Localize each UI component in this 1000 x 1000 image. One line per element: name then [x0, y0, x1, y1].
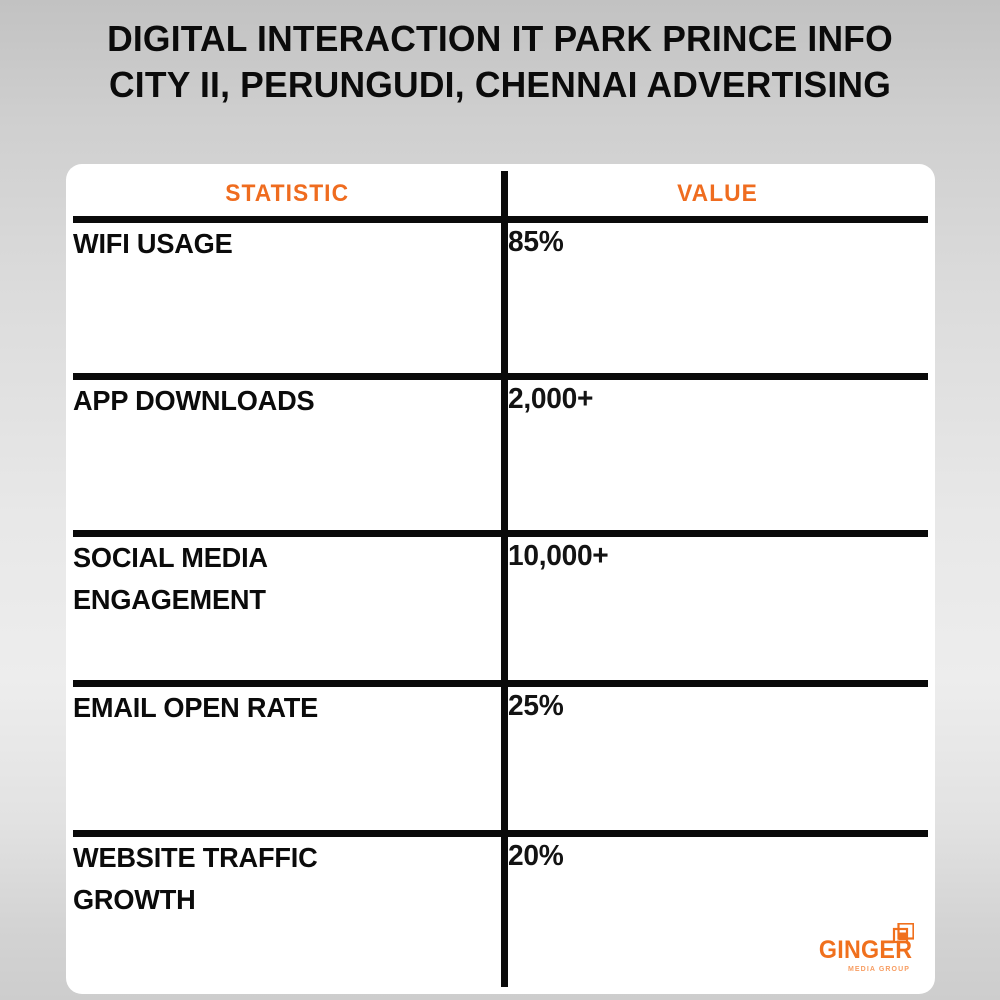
value-cell: 20% GINGER MEDIA GROUP — [504, 834, 931, 991]
statistic-label: EMAIL OPEN RATE — [73, 687, 488, 729]
table-row: WIFI USAGE 85% — [70, 220, 932, 377]
value-label: 20% — [508, 837, 916, 875]
value-cell: 85% — [504, 220, 931, 377]
ginger-media-group-logo: GINGER MEDIA GROUP — [796, 923, 916, 977]
statistic-cell: WIFI USAGE — [70, 220, 505, 377]
table-row: APP DOWNLOADS 2,000+ — [70, 377, 932, 534]
table-header-row: STATISTIC VALUE — [70, 168, 932, 220]
column-header-statistic: STATISTIC — [70, 168, 505, 220]
table-row: EMAIL OPEN RATE 25% — [70, 684, 932, 834]
statistics-table-container: STATISTIC VALUE WIFI USAGE 85% APP DOWNL… — [66, 164, 935, 979]
statistic-cell: APP DOWNLOADS — [70, 377, 505, 534]
value-label: 2,000+ — [508, 380, 916, 418]
statistics-table: STATISTIC VALUE WIFI USAGE 85% APP DOWNL… — [66, 164, 935, 994]
statistic-label: WEBSITE TRAFFIC GROWTH — [73, 837, 488, 921]
page-title-line-2: CITY II, PERUNGUDI, CHENNAI ADVERTISING — [55, 62, 945, 108]
statistic-label: WIFI USAGE — [73, 223, 488, 265]
value-cell: 25% — [504, 684, 931, 834]
page-title: DIGITAL INTERACTION IT PARK PRINCE INFO … — [0, 16, 1000, 108]
statistic-cell: SOCIAL MEDIA ENGAGEMENT — [70, 534, 505, 684]
logo-wordmark: GINGER — [804, 938, 916, 963]
column-header-value: VALUE — [504, 168, 931, 220]
table-row: WEBSITE TRAFFIC GROWTH 20% GIN — [70, 834, 932, 991]
statistic-cell: WEBSITE TRAFFIC GROWTH — [70, 834, 505, 991]
value-cell: 2,000+ — [504, 377, 931, 534]
table-row: SOCIAL MEDIA ENGAGEMENT 10,000+ — [70, 534, 932, 684]
statistic-label: SOCIAL MEDIA ENGAGEMENT — [73, 537, 488, 621]
value-cell: 10,000+ — [504, 534, 931, 684]
column-header-statistic-label: STATISTIC — [225, 180, 349, 208]
value-label: 85% — [508, 223, 916, 261]
statistic-cell: EMAIL OPEN RATE — [70, 684, 505, 834]
logo-tagline: MEDIA GROUP — [796, 965, 916, 974]
value-label: 25% — [508, 687, 916, 725]
column-header-value-label: VALUE — [677, 180, 758, 208]
page-title-line-1: DIGITAL INTERACTION IT PARK PRINCE INFO — [55, 16, 945, 62]
value-label: 10,000+ — [508, 537, 916, 575]
statistic-label: APP DOWNLOADS — [73, 380, 488, 422]
